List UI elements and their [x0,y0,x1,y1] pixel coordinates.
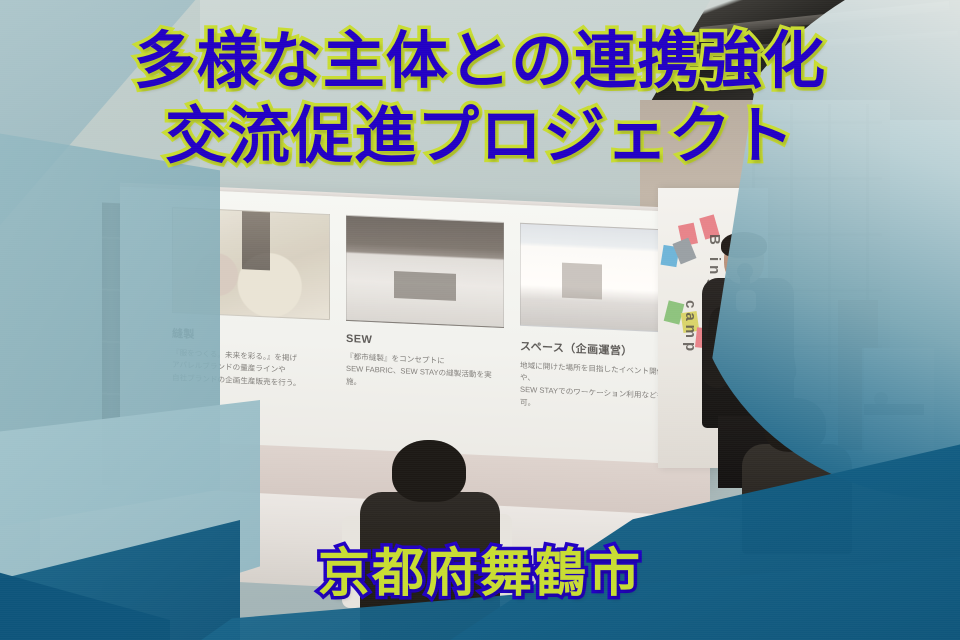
projector-screen: 縫製 『服をつくる。未来を彩る。』を掲げ アパレルブランドの量産ラインや 自社ブ… [120,187,710,476]
audience-head [392,440,466,502]
audience-head [764,398,826,452]
title-line-1: 多様な主体との連携強化 [0,26,960,95]
presentation-slide: 縫製 『服をつくる。未来を彩る。』を掲げ アパレルブランドの量産ラインや 自社ブ… [172,207,676,416]
sew-stay-building-photo [520,223,678,333]
slide-column-heading: スペース（企画運営） [520,338,676,361]
slide-column-body: 『服をつくる。未来を彩る。』を掲げ アパレルブランドの量産ラインや 自社ブランド… [172,347,328,391]
slide-column: 縫製 『服をつくる。未来を彩る。』を掲げ アパレルブランドの量産ラインや 自社ブ… [172,207,328,400]
speaker-hand [736,290,756,312]
slide-column: スペース（企画運営） 地域に開けた場所を目指したイベント開催や、 SEW STA… [520,223,676,416]
title-block: 多様な主体との連携強化 交流促進プロジェクト [0,26,960,171]
sewing-machine-photo [172,207,330,320]
location-caption: 京都府舞鶴市 [0,531,960,606]
screenshot-stage: 縫製 『服をつくる。未来を彩る。』を掲げ アパレルブランドの量産ラインや 自社ブ… [0,0,960,640]
slide-column: SEW 『都市縫製』をコンセプトに SEW FABRIC、SEW STAYの縫製… [346,215,502,408]
vending-machine-label [864,404,924,415]
machiya-townhouse-photo [346,215,504,328]
vending-machine [862,348,934,453]
caption-block: 京都府舞鶴市 [0,531,960,606]
slide-column-heading: 縫製 [172,325,328,348]
slide-columns: 縫製 『服をつくる。未来を彩る。』を掲げ アパレルブランドの量産ラインや 自社ブ… [172,207,676,416]
title-line-2: 交流促進プロジェクト [0,101,960,170]
slide-column-body: 『都市縫製』をコンセプトに SEW FABRIC、SEW STAYの縫製活動を実… [346,351,502,395]
banner-word-bottom: camp [682,300,699,355]
audience-member [738,398,856,548]
slide-column-body: 地域に開けた場所を目指したイベント開催や、 SEW STAYでのワーケーション利… [520,360,676,416]
speaker-hair [721,232,767,258]
slide-column-heading: SEW [346,333,502,352]
